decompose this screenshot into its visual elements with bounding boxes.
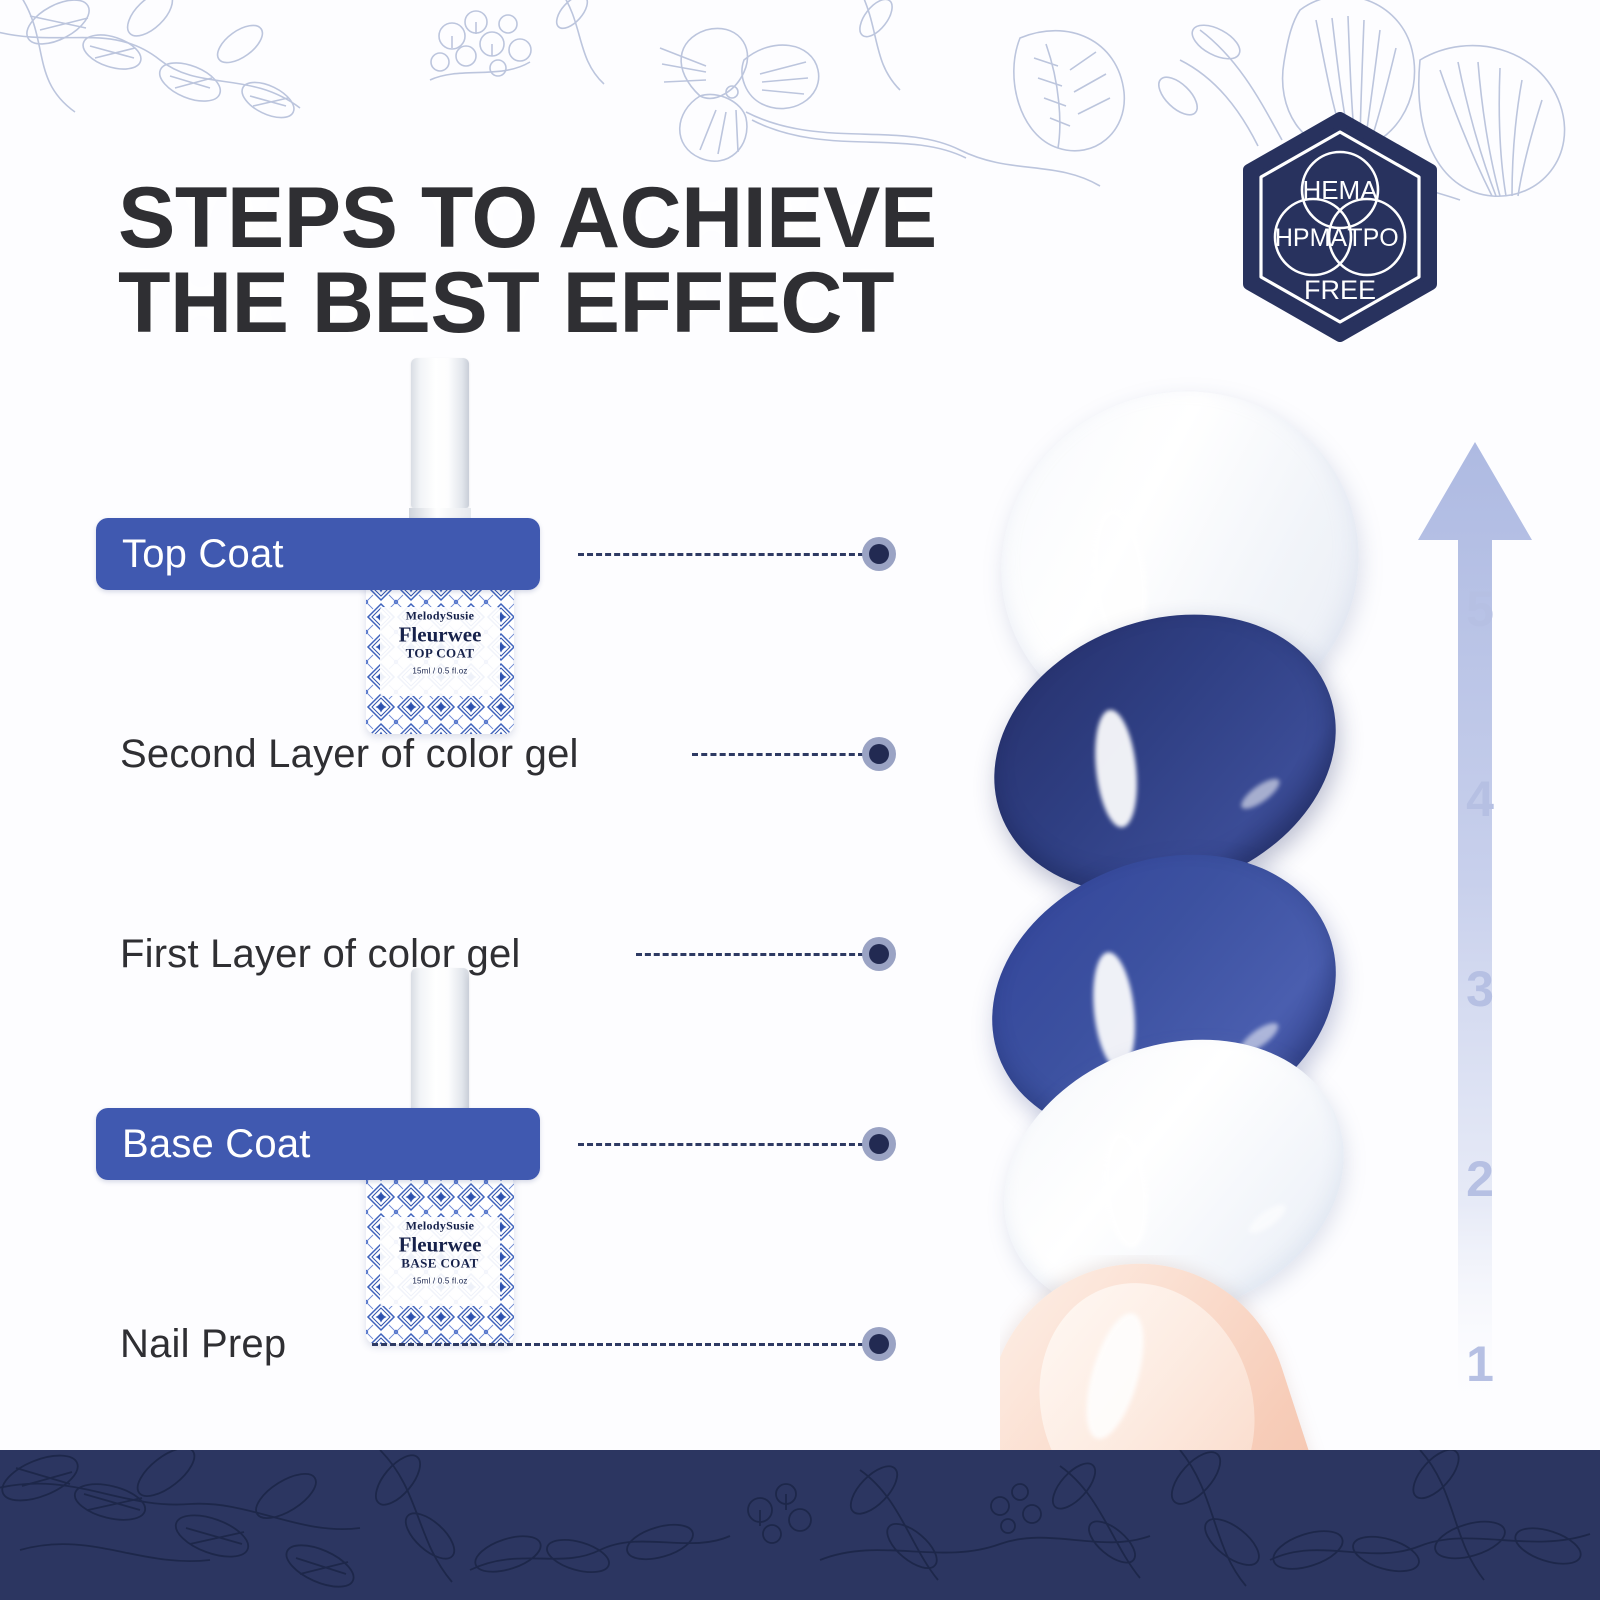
step-label: Second Layer of color gel [120, 732, 579, 777]
leader-line-nail-prep [372, 1333, 896, 1355]
badge-text-free: FREE [1304, 275, 1376, 305]
step-row-nail-prep: Nail Prep [120, 1308, 286, 1380]
dashed-line [372, 1343, 864, 1346]
step-label: Top Coat [122, 532, 284, 577]
step-row-base-coat: Base Coat [96, 1108, 540, 1180]
bottle-label: MelodySusie Fleurwee TOP COAT 15ml / 0.5… [366, 608, 514, 675]
step-banner-top-coat[interactable]: Top Coat [96, 518, 540, 590]
step-progress-arrow: 5 4 3 2 1 [1400, 430, 1550, 1420]
bottle-product-name: Fleurwee [366, 1233, 514, 1255]
dashed-line [578, 1143, 864, 1146]
bottle-cap [411, 358, 469, 508]
arrow-number-1: 1 [1455, 1335, 1505, 1393]
dashed-line [692, 753, 864, 756]
bottle-product-type: TOP COAT [366, 645, 514, 661]
bottle-product-name: Fleurwee [366, 623, 514, 645]
step-dot [862, 1127, 896, 1161]
badge-text-tpo: TPO [1347, 224, 1398, 252]
arrow-number-5: 5 [1455, 580, 1505, 638]
step-row-first-layer: First Layer of color gel [120, 918, 521, 990]
bottle-brand: MelodySusie [366, 1218, 514, 1233]
hema-hpma-tpo-free-badge: HEMA HPMA TPO FREE [1225, 112, 1455, 342]
badge-text-hpma: HPMA [1275, 224, 1348, 252]
step-row-top-coat: Top Coat [96, 518, 540, 590]
arrow-number-2: 2 [1455, 1150, 1505, 1208]
bottle-size: 15ml / 0.5 fl.oz [366, 666, 514, 675]
infographic-canvas: STEPS TO ACHIEVE THE BEST EFFECT HEMA HP… [0, 0, 1600, 1600]
step-label: Nail Prep [120, 1322, 286, 1367]
step-label: Base Coat [122, 1122, 311, 1167]
page-title: STEPS TO ACHIEVE THE BEST EFFECT [118, 176, 1178, 346]
floral-bottom-decoration [0, 1450, 1600, 1600]
bottle-product-type: BASE COAT [366, 1255, 514, 1271]
step-dot [862, 937, 896, 971]
leader-line-second-layer [692, 743, 896, 765]
step-label: First Layer of color gel [120, 932, 521, 977]
bottle-size: 15ml / 0.5 fl.oz [366, 1276, 514, 1285]
step-dot [862, 737, 896, 771]
bottle-body: MelodySusie Fleurwee BASE COAT 15ml / 0.… [366, 1152, 514, 1344]
step-dot [862, 537, 896, 571]
leader-line-base-coat [578, 1133, 896, 1155]
step-row-second-layer: Second Layer of color gel [120, 718, 579, 790]
bottle-label: MelodySusie Fleurwee BASE COAT 15ml / 0.… [366, 1218, 514, 1285]
leader-line-top-coat [578, 543, 896, 565]
arrow-number-4: 4 [1455, 770, 1505, 828]
step-dot [862, 1327, 896, 1361]
badge-text-hema: HEMA [1302, 175, 1378, 205]
dashed-line [578, 553, 864, 556]
arrow-number-3: 3 [1455, 960, 1505, 1018]
bottle-brand: MelodySusie [366, 608, 514, 623]
leader-line-first-layer [636, 943, 896, 965]
step-banner-base-coat[interactable]: Base Coat [96, 1108, 540, 1180]
dashed-line [636, 953, 864, 956]
bottle-cap [411, 968, 469, 1118]
